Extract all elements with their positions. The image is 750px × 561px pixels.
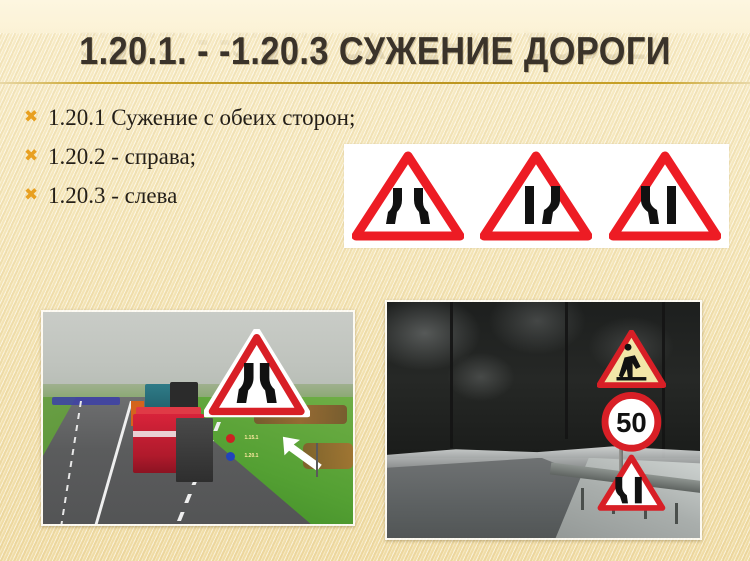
cross-bullet-icon: ✖ <box>24 104 48 131</box>
road-signs-strip <box>344 144 729 248</box>
narrowing-left-sign <box>609 150 721 242</box>
slide: 1.20.1. - -1.20.3 СУЖЕНИЕ ДОРОГИ 1.20.1.… <box>0 0 750 561</box>
sign-label-1: 1.15.1 <box>245 435 259 441</box>
tree-trunk <box>565 302 568 439</box>
list-item-label: 1.20.1 Сужение с обеих сторон; <box>48 104 364 131</box>
bullet-list: ✖ 1.20.1 Сужение с обеих сторон; ✖ 1.20.… <box>24 104 364 221</box>
road-simulation-photo: 1.15.1 1.20.1 <box>41 310 355 526</box>
narrowing-both-sides-sign-in-scene <box>204 329 309 422</box>
speed-limit-50-sign: 50 <box>597 392 666 452</box>
truck-cargo-box <box>176 418 213 482</box>
winter-scene: 50 <box>387 302 700 538</box>
sign-label-2: 1.20.1 <box>245 453 259 459</box>
winter-road-photo: 50 <box>385 300 702 540</box>
narrowing-left-sign <box>597 454 666 514</box>
sign-stack: 50 <box>597 330 666 515</box>
title-container: 1.20.1. - -1.20.3 СУЖЕНИЕ ДОРОГИ <box>0 26 750 88</box>
water-strip <box>52 397 120 405</box>
list-item: ✖ 1.20.1 Сужение с обеих сторон; <box>24 104 364 131</box>
sign-label-dot-2 <box>226 452 235 461</box>
sign-label-dot-1 <box>226 434 235 443</box>
list-item-label: 1.20.3 - слева <box>48 182 364 209</box>
roadworks-sign <box>597 330 666 390</box>
speed-limit-value: 50 <box>616 407 647 438</box>
page-title: 1.20.1. - -1.20.3 СУЖЕНИЕ ДОРОГИ <box>45 26 705 78</box>
cross-bullet-icon: ✖ <box>24 182 48 209</box>
guardrail-post <box>675 503 678 524</box>
guardrail-post <box>581 488 584 509</box>
white-arrow-icon <box>269 429 337 476</box>
cross-bullet-icon: ✖ <box>24 143 48 170</box>
list-item: ✖ 1.20.3 - слева <box>24 182 364 209</box>
list-item: ✖ 1.20.2 - справа; <box>24 143 364 170</box>
sign-post <box>316 443 318 477</box>
simulation-scene: 1.15.1 1.20.1 <box>43 312 353 524</box>
tree-trunk <box>450 302 453 448</box>
title-underline-rule <box>0 82 750 84</box>
narrowing-both-sides-sign <box>352 150 464 242</box>
list-item-label: 1.20.2 - справа; <box>48 143 364 170</box>
narrowing-right-sign <box>480 150 592 242</box>
